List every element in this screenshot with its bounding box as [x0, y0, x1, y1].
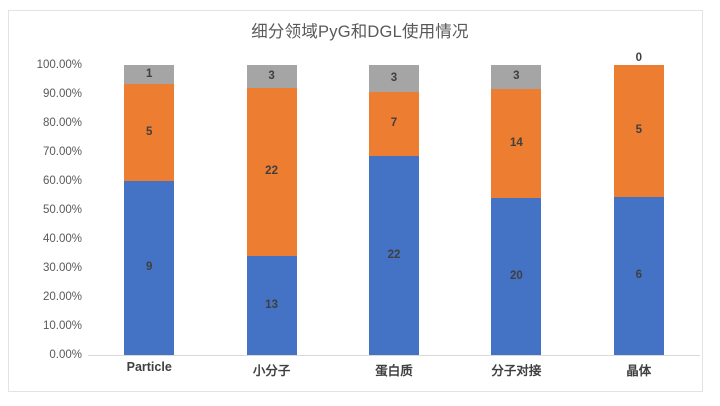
bar-stack[interactable]: 650	[614, 65, 664, 355]
bar-segment-series-3[interactable]: 3	[369, 65, 419, 92]
bar-segment-data-label: 22	[388, 250, 401, 262]
y-axis-tick-label: 10.00%	[8, 320, 82, 332]
bar-segment-series-1[interactable]: 22	[369, 156, 419, 355]
bar-segment-series-2[interactable]: 14	[491, 89, 541, 199]
y-axis-tick-label: 100.00%	[8, 59, 82, 71]
y-axis-tick-label: 50.00%	[8, 204, 82, 216]
bar-segment-series-3[interactable]: 3	[247, 65, 297, 88]
x-axis-tick-label: 蛋白质	[333, 360, 455, 379]
y-axis-tick-label: 20.00%	[8, 291, 82, 303]
bar-segment-series-3[interactable]: 1	[124, 65, 174, 84]
bar-segment-data-label: 1	[146, 69, 152, 81]
bar-segment-data-label: 6	[636, 270, 642, 282]
x-axis: Particle小分子蛋白质分子对接晶体	[88, 360, 700, 388]
y-axis-tick-label: 70.00%	[8, 146, 82, 158]
y-axis-tick-label: 40.00%	[8, 233, 82, 245]
y-axis-tick-label: 80.00%	[8, 117, 82, 129]
bar-category-group: 650	[578, 65, 700, 355]
bar-segment-series-3[interactable]: 3	[491, 65, 541, 89]
x-axis-tick-label: 小分子	[210, 360, 332, 379]
x-axis-tick-label: Particle	[88, 360, 210, 374]
bar-category-group: 951	[88, 65, 210, 355]
x-axis-tick-label: 分子对接	[455, 360, 577, 379]
chart-title: 细分领域PyG和DGL使用情况	[0, 18, 720, 42]
bar-segment-series-1[interactable]: 20	[491, 198, 541, 355]
bar-segment-data-label: 3	[513, 71, 519, 83]
y-axis-tick-label: 0.00%	[8, 349, 82, 361]
chart-container: 细分领域PyG和DGL使用情况 100.00%90.00%80.00%70.00…	[0, 0, 720, 406]
bar-stack[interactable]: 951	[124, 65, 174, 355]
x-axis-line	[88, 355, 700, 356]
bar-segment-data-label: 5	[146, 127, 152, 139]
plot-area: 95113223227320143650	[88, 65, 700, 355]
bar-segment-data-label: 13	[265, 300, 278, 312]
bar-segment-series-1[interactable]: 6	[614, 197, 664, 355]
bar-segment-data-label: 9	[146, 262, 152, 274]
bar-segment-series-2[interactable]: 22	[247, 88, 297, 256]
bar-segment-data-label: 7	[391, 118, 397, 130]
y-axis-tick-label: 60.00%	[8, 175, 82, 187]
bar-segment-data-label: 5	[636, 125, 642, 137]
bar-stack[interactable]: 2273	[369, 65, 419, 355]
bar-segment-data-label: 22	[265, 166, 278, 178]
bar-segment-series-2[interactable]: 7	[369, 92, 419, 155]
bar-segment-series-2[interactable]: 5	[614, 65, 664, 197]
bar-segment-data-label: 3	[268, 71, 274, 83]
y-axis-tick-label: 30.00%	[8, 262, 82, 274]
bar-category-group: 20143	[455, 65, 577, 355]
bar-stack[interactable]: 20143	[491, 65, 541, 355]
bar-segment-data-label: 3	[391, 73, 397, 85]
bar-segment-data-label: 20	[510, 271, 523, 283]
bar-segment-data-label: 14	[510, 138, 523, 150]
bar-segment-series-1[interactable]: 9	[124, 181, 174, 355]
y-axis-tick-label: 90.00%	[8, 88, 82, 100]
x-axis-tick-label: 晶体	[578, 360, 700, 379]
bar-segment-series-2[interactable]: 5	[124, 84, 174, 181]
bar-segment-data-label: 0	[636, 53, 642, 65]
bar-stack[interactable]: 13223	[247, 65, 297, 355]
bar-segment-series-1[interactable]: 13	[247, 256, 297, 355]
bar-category-group: 13223	[210, 65, 332, 355]
y-axis: 100.00%90.00%80.00%70.00%60.00%50.00%40.…	[8, 65, 82, 355]
bar-category-group: 2273	[333, 65, 455, 355]
